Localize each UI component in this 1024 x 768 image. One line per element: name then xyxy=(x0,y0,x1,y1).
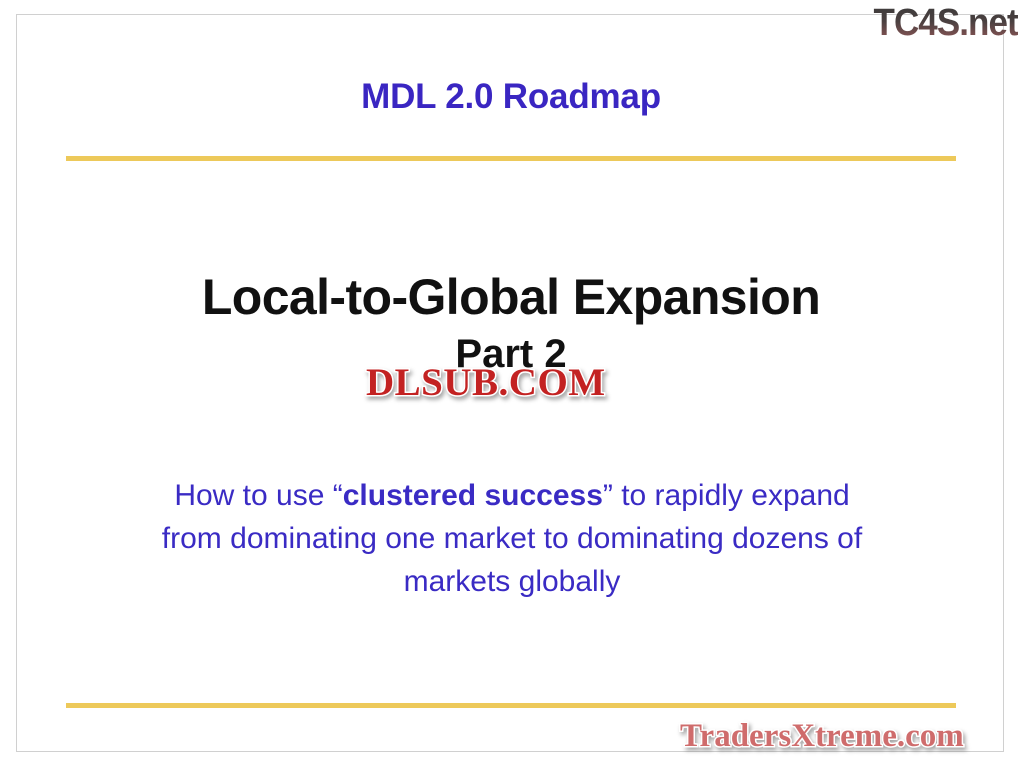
divider-rule-bottom xyxy=(66,703,956,708)
slide-title: MDL 2.0 Roadmap xyxy=(66,78,956,117)
watermark-dlsub: DLSUB.COM xyxy=(366,360,606,405)
watermark-tc4s: TC4S.net xyxy=(874,2,1018,45)
body-copy-emphasis: clustered success xyxy=(343,479,603,512)
body-copy-lead: How to use “ xyxy=(174,479,342,512)
body-copy: How to use “clustered success” to rapidl… xyxy=(150,474,874,604)
divider-rule-top xyxy=(66,156,956,161)
headline-main: Local-to-Global Expansion xyxy=(66,268,956,327)
watermark-tradersxtreme: TradersXtreme.com xyxy=(680,718,964,755)
slide-canvas: MDL 2.0 Roadmap Local-to-Global Expansio… xyxy=(0,0,1024,768)
